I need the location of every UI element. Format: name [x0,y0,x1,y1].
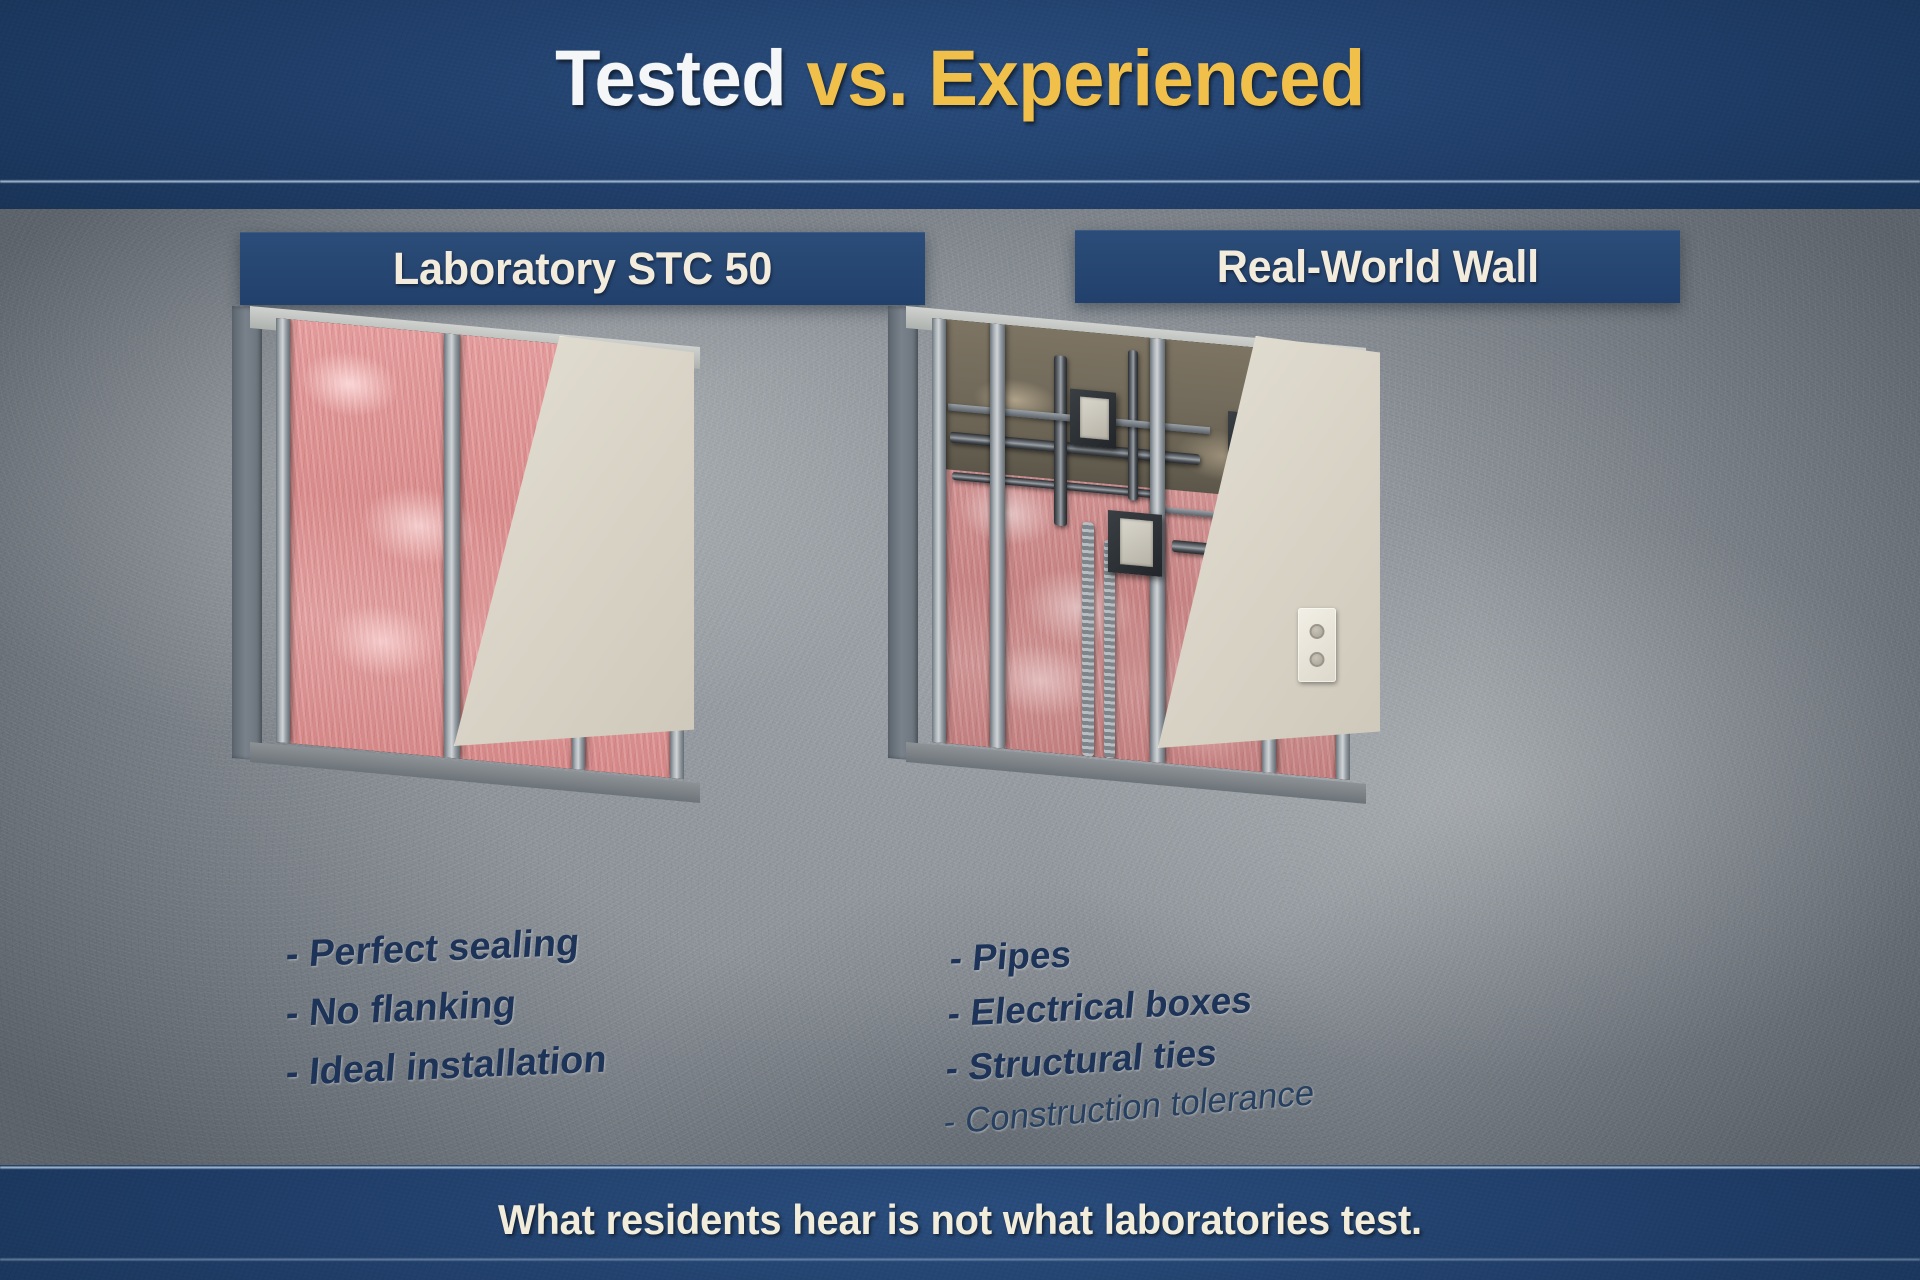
list-item: - Electrical boxes [946,978,1321,1032]
page-title: Tested vs. Experienced [58,38,1863,117]
laboratory-wall-illustration [232,306,702,758]
panel-label-real-world: Real-World Wall [1075,230,1680,303]
metal-stud-6 [990,323,1005,748]
real-world-wall-illustration [888,306,1368,758]
electrical-box-2 [1108,510,1162,577]
real-world-bullet-list: - Pipes - Electrical boxes - Structural … [950,940,1322,1140]
bottom-band-hairline-lower [0,1258,1920,1261]
list-item: - Ideal installation [284,1040,608,1092]
list-item: - No flanking [284,981,608,1033]
metal-stud-1 [276,318,290,743]
page-title-tested: Tested [555,33,806,122]
flexible-conduit-1 [1082,522,1094,757]
laboratory-bullet-list: - Perfect sealing - No flanking - Ideal … [286,936,607,1113]
vertical-pipe-1 [1054,355,1067,526]
panel-label-laboratory-text: Laboratory STC 50 [393,243,772,295]
infographic-canvas: Tested vs. Experienced Laboratory STC 50… [0,0,1920,1280]
bottom-band-hairline [0,1166,1920,1169]
page-title-experienced: vs. Experienced [806,33,1364,122]
metal-stud-2 [444,333,460,758]
metal-stud-5 [932,318,946,743]
wall-outlet-icon [1298,608,1336,682]
wall-left-side-edge [232,306,262,761]
top-band-hairline [0,180,1920,183]
panel-label-laboratory: Laboratory STC 50 [240,232,925,305]
wall-right-side-edge [888,306,918,761]
panel-label-real-world-text: Real-World Wall [1216,241,1538,293]
footer-caption: What residents hear is not what laborato… [48,1196,1872,1244]
electrical-box-1 [1070,389,1116,449]
